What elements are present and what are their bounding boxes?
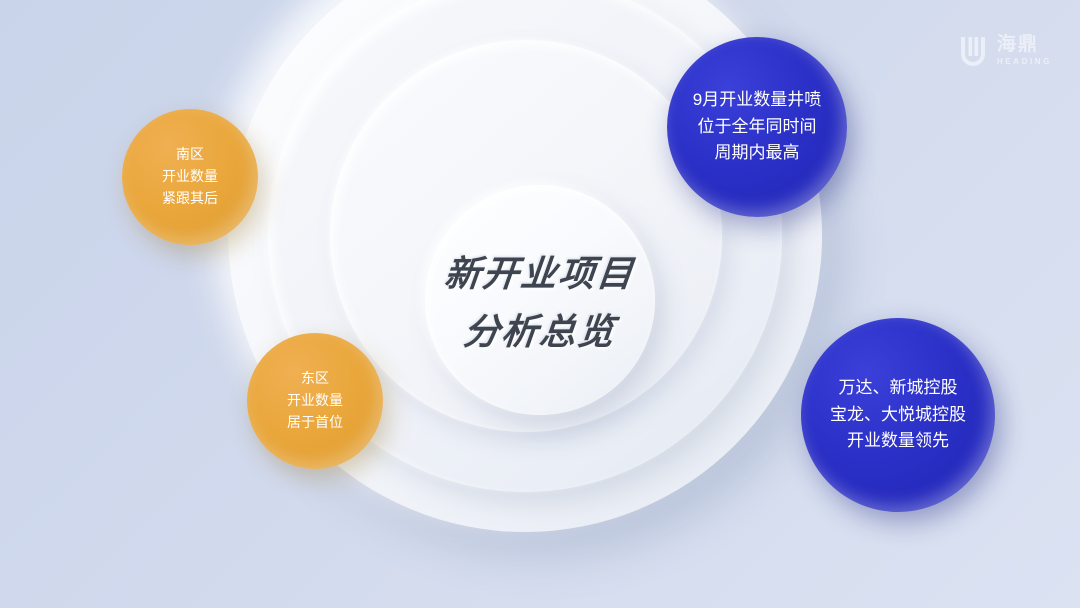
center-disc bbox=[425, 185, 655, 415]
brand-logo: 海鼎 HEADING bbox=[958, 34, 1052, 66]
callout-line: 开业数量 bbox=[287, 390, 343, 412]
slide-canvas: 新开业项目 分析总览 9月开业数量井喷 位于全年同时间 周期内最高 万达、新城控… bbox=[0, 0, 1080, 608]
logo-name-en: HEADING bbox=[997, 58, 1052, 66]
logo-name-cn: 海鼎 bbox=[997, 35, 1052, 54]
callout-line: 周期内最高 bbox=[715, 140, 800, 166]
callout-line: 开业数量领先 bbox=[847, 428, 949, 454]
callout-bubble-monthly-peak[interactable]: 9月开业数量井喷 位于全年同时间 周期内最高 bbox=[667, 37, 847, 217]
callout-bubble-leading-developers[interactable]: 万达、新城控股 宝龙、大悦城控股 开业数量领先 bbox=[801, 318, 995, 512]
callout-bubble-south-region[interactable]: 南区 开业数量 紧跟其后 bbox=[122, 109, 258, 245]
callout-line: 紧跟其后 bbox=[162, 188, 218, 210]
callout-line: 开业数量 bbox=[162, 166, 218, 188]
logo-text-block: 海鼎 HEADING bbox=[997, 35, 1052, 66]
callout-line: 位于全年同时间 bbox=[698, 114, 817, 140]
callout-line: 万达、新城控股 bbox=[839, 375, 958, 401]
callout-line: 居于首位 bbox=[287, 412, 343, 434]
callout-bubble-east-region[interactable]: 东区 开业数量 居于首位 bbox=[247, 333, 383, 469]
callout-line: 东区 bbox=[301, 368, 329, 390]
callout-line: 南区 bbox=[176, 144, 204, 166]
heading-bars-logo-icon bbox=[958, 34, 988, 66]
callout-line: 宝龙、大悦城控股 bbox=[830, 402, 966, 428]
callout-line: 9月开业数量井喷 bbox=[693, 87, 821, 113]
